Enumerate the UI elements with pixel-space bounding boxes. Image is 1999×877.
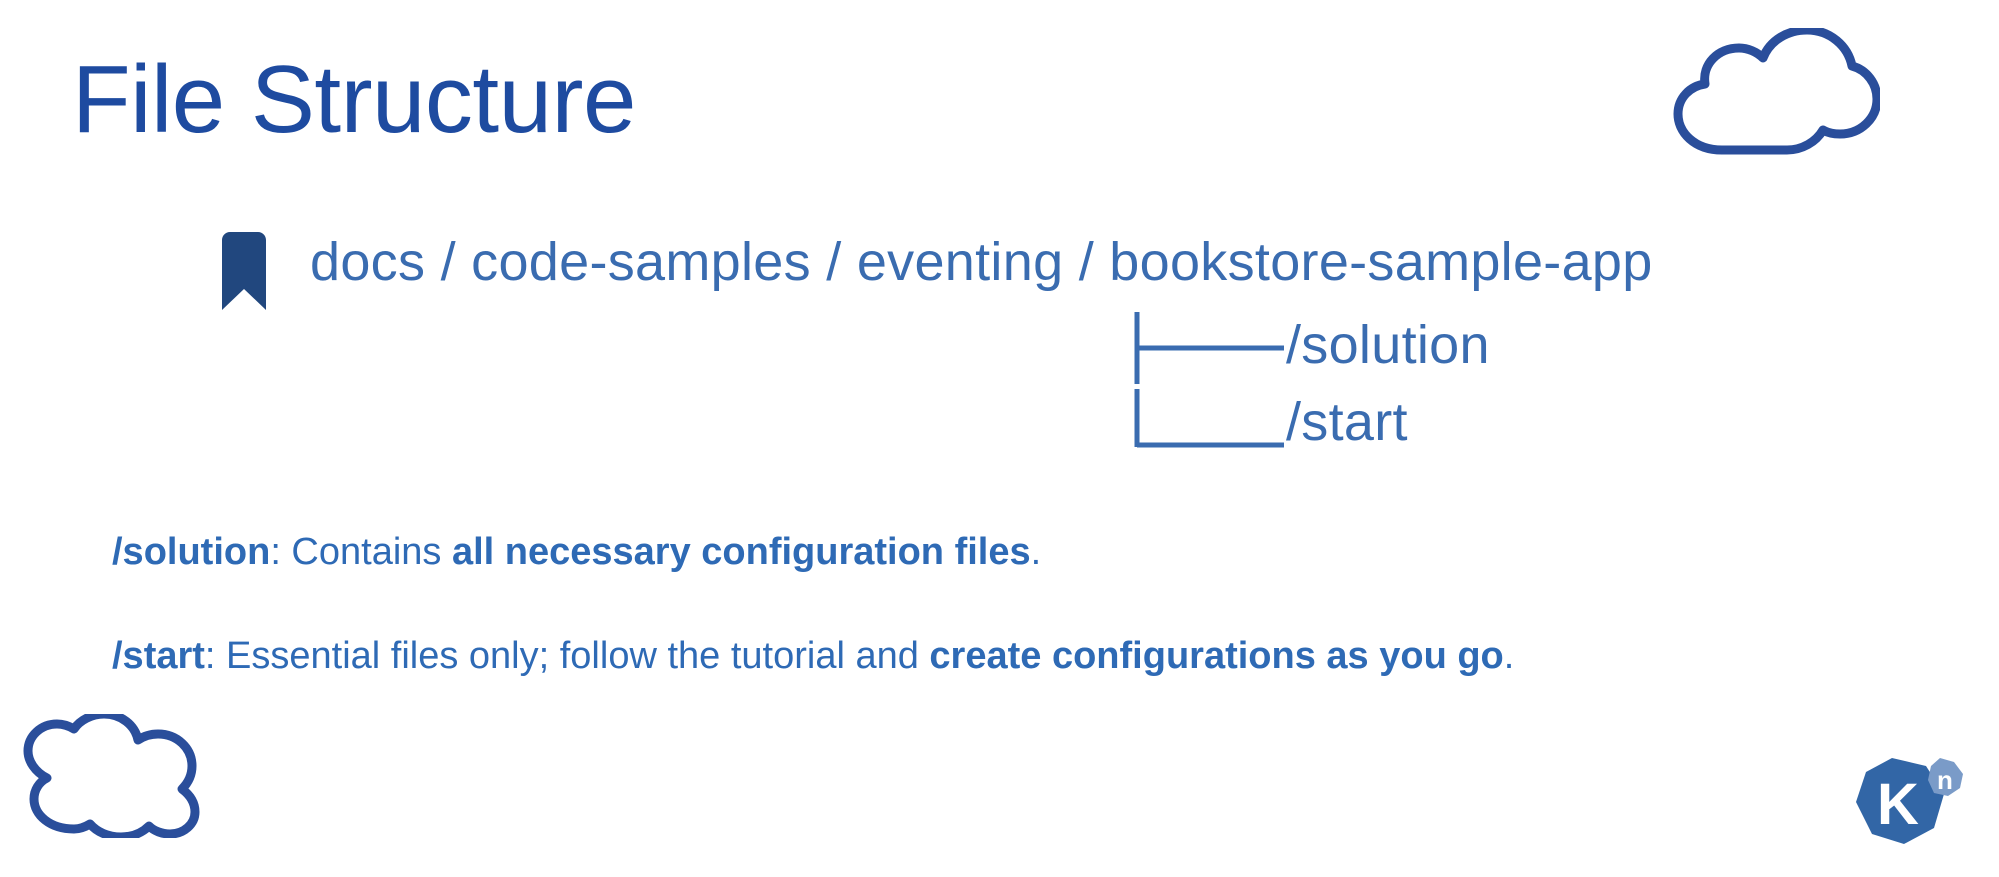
tree-branch-icon: [1134, 312, 1286, 390]
emphasis-text: all necessary configuration files: [452, 531, 1031, 573]
plain-text: .: [1031, 531, 1042, 573]
cloud-icon: [14, 714, 214, 838]
emphasis-text: /start: [112, 635, 205, 677]
plain-text: : Contains: [270, 531, 452, 573]
knative-logo-letter: K: [1877, 772, 1919, 837]
knative-logo-badge-letter: n: [1937, 765, 1953, 795]
emphasis-text: create configurations as you go: [929, 635, 1503, 677]
plain-text: .: [1504, 635, 1515, 677]
emphasis-text: /solution: [112, 531, 270, 573]
tree-item-label: /solution: [1286, 318, 1490, 372]
cloud-icon: [1664, 28, 1880, 160]
breadcrumb: docs / code-samples / eventing / booksto…: [310, 235, 1653, 289]
knative-logo: K n: [1848, 752, 1968, 856]
tree-item-label: /start: [1286, 395, 1408, 449]
bookmark-icon: [216, 232, 272, 310]
description-start: /start: Essential files only; follow the…: [112, 637, 1514, 675]
tree-branch-last-icon: [1134, 389, 1286, 467]
description-solution: /solution: Contains all necessary config…: [112, 533, 1041, 571]
page-title: File Structure: [72, 52, 636, 148]
slide-canvas: File Structure docs / code-samples / eve…: [0, 0, 1999, 877]
plain-text: : Essential files only; follow the tutor…: [205, 635, 930, 677]
